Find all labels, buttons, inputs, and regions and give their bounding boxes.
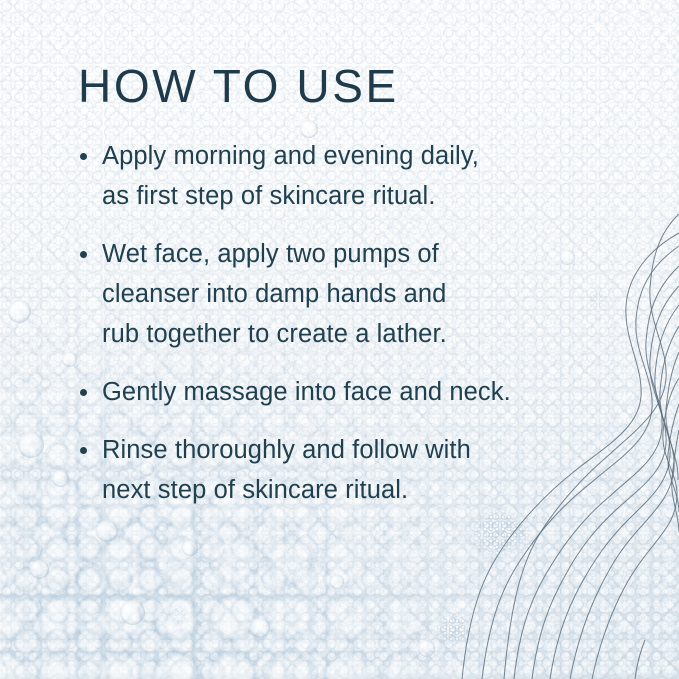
bubble	[330, 575, 344, 589]
list-item-line: Apply morning and evening daily,	[102, 142, 479, 170]
bubble	[182, 540, 198, 556]
list-item-line: cleanser into damp hands and	[102, 280, 446, 308]
bubble	[418, 640, 435, 657]
bubble	[120, 600, 145, 625]
content-block: HOW TO USE Apply morning and evening dai…	[78, 62, 618, 510]
bubble-cluster	[436, 612, 472, 646]
bullet-dot-icon	[80, 251, 87, 258]
page-title: HOW TO USE	[78, 62, 618, 110]
list-item-line: next step of skincare ritual.	[102, 476, 408, 504]
bubble	[96, 520, 118, 542]
how-to-use-panel: HOW TO USE Apply morning and evening dai…	[0, 0, 679, 679]
list-item-line: Rinse thoroughly and follow with	[102, 436, 471, 464]
list-item-line: Wet face, apply two pumps of	[102, 240, 439, 268]
bullet-dot-icon	[80, 153, 87, 160]
bubble-cluster	[168, 604, 190, 624]
list-item-line: rub together to create a lather.	[102, 320, 447, 348]
bubble	[250, 618, 270, 638]
list-item: Wet face, apply two pumps of cleanser in…	[78, 234, 618, 354]
bubble	[52, 470, 69, 487]
list-item: Rinse thoroughly and follow with next st…	[78, 430, 618, 510]
list-item-line: Gently massage into face and neck.	[102, 378, 511, 406]
bubble-cluster	[506, 520, 532, 544]
bubble	[30, 560, 49, 579]
bubble	[62, 352, 77, 367]
list-item: Gently massage into face and neck.	[78, 372, 618, 412]
bullet-dot-icon	[80, 447, 87, 454]
list-item: Apply morning and evening daily, as firs…	[78, 136, 618, 216]
bubble	[8, 300, 31, 323]
list-item-line: as first step of skincare ritual.	[102, 182, 436, 210]
bubble	[18, 432, 44, 458]
bullet-dot-icon	[80, 389, 87, 396]
instruction-list: Apply morning and evening daily, as firs…	[78, 136, 618, 510]
